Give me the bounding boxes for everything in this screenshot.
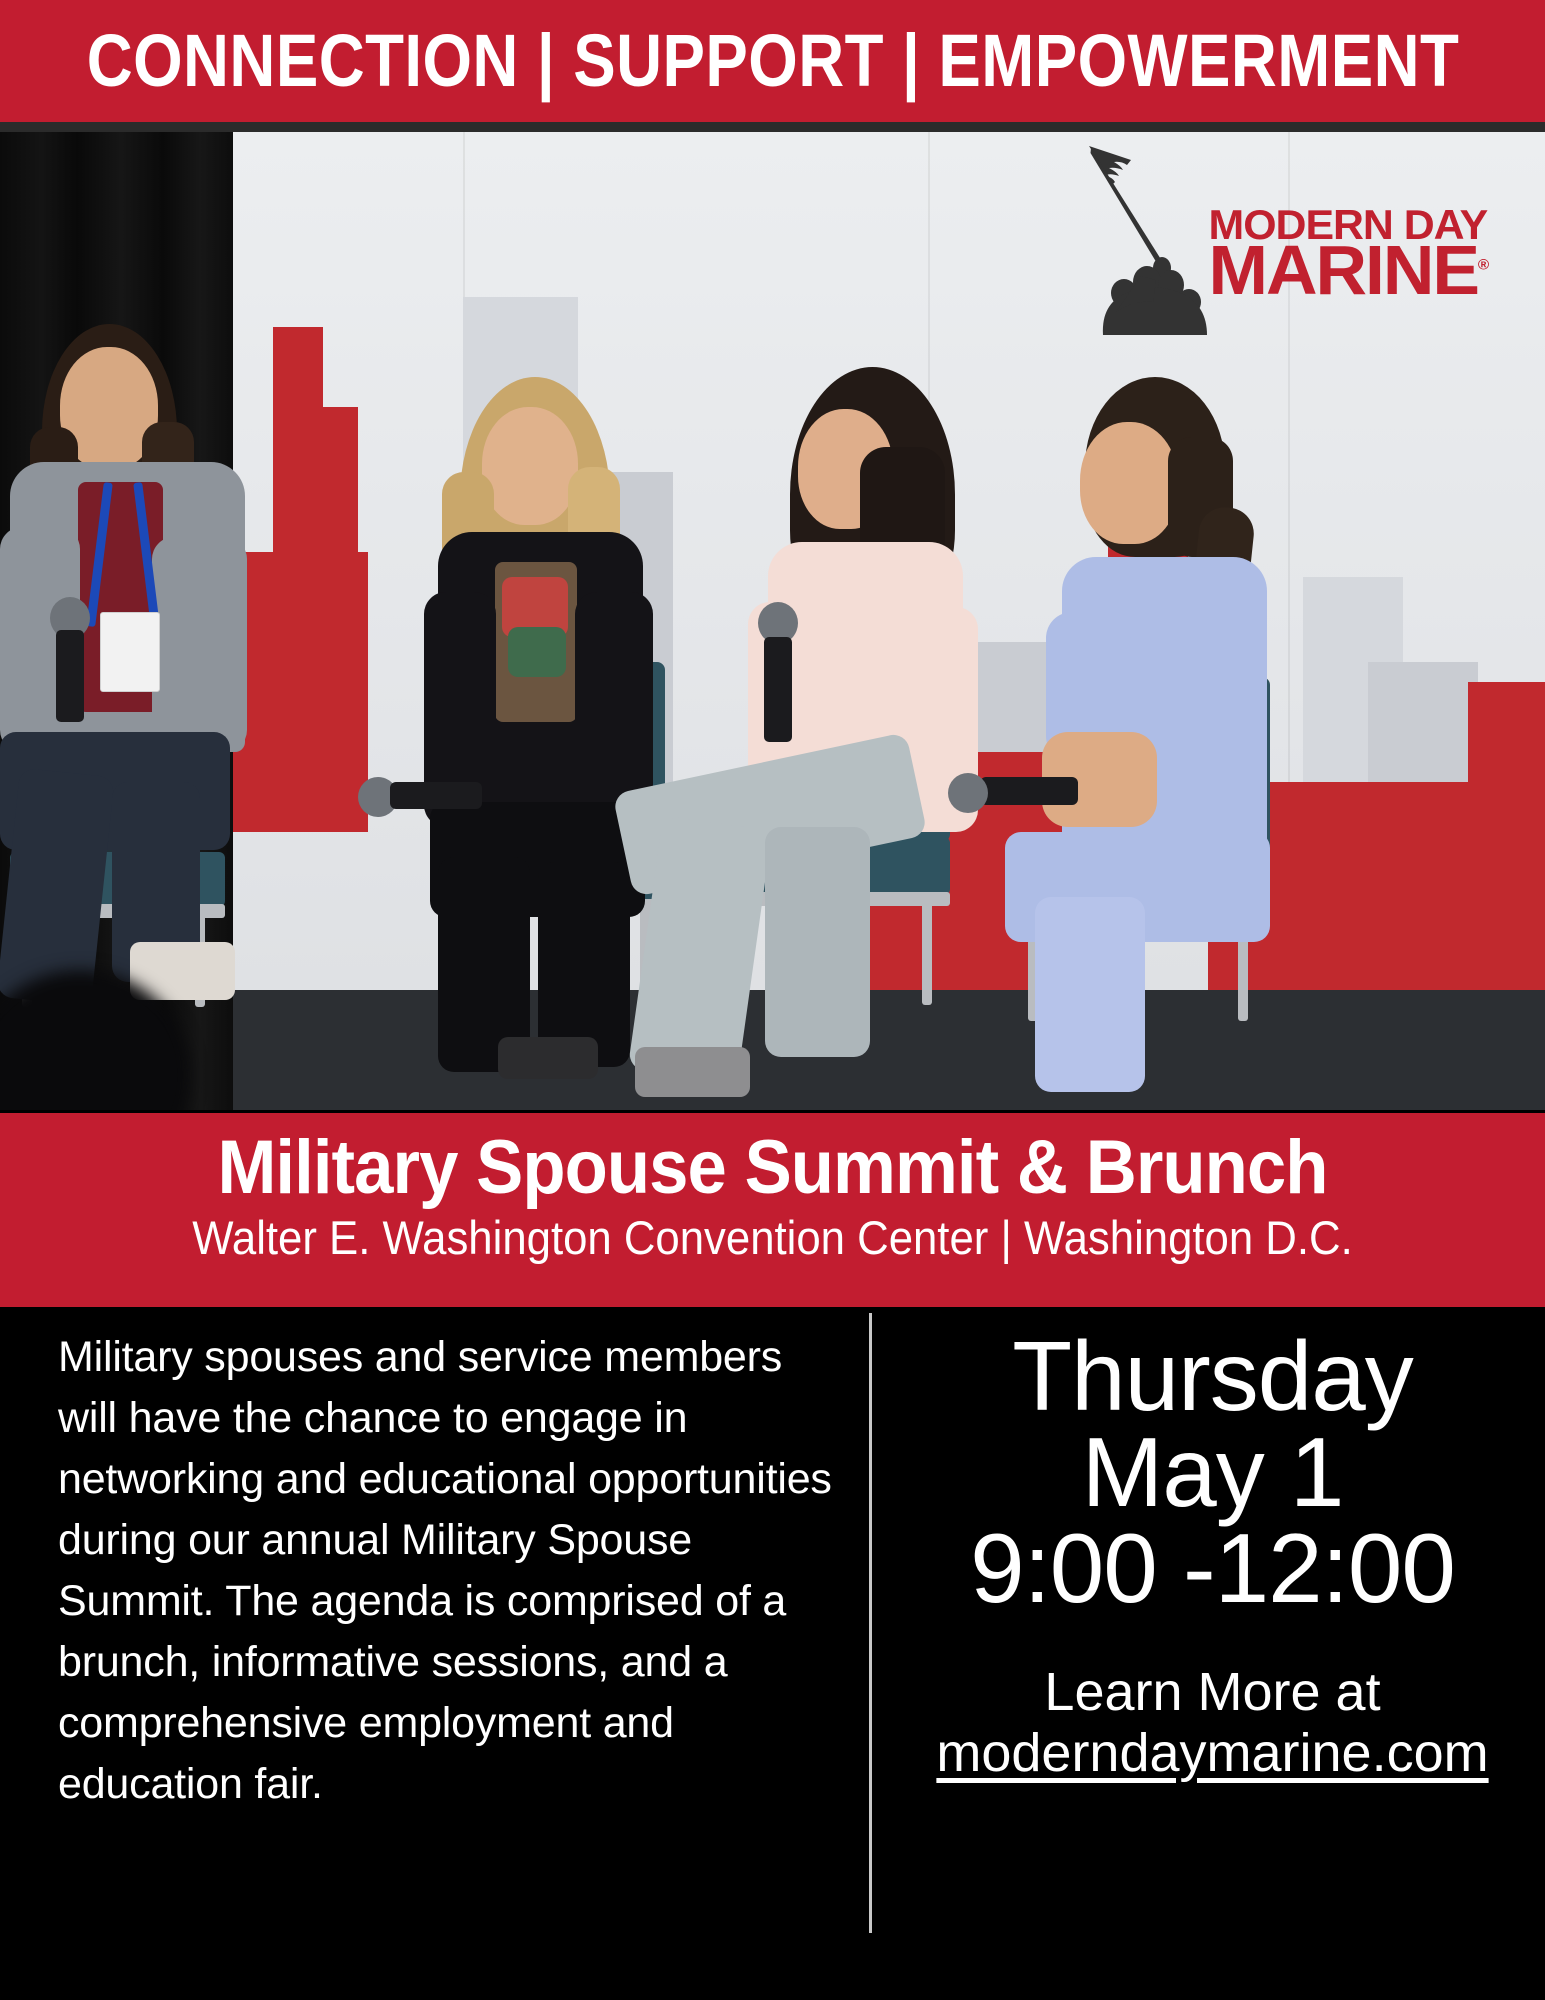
logo-line-2: MARINE® [1208, 242, 1487, 299]
event-details-column: Thursday May 1 9:00 -12:00 Learn More at… [880, 1327, 1545, 1784]
venue-text: Walter E. Washington Convention Center |… [54, 1213, 1491, 1262]
event-description: Military spouses and service members wil… [58, 1327, 848, 1815]
learn-more-label: Learn More at [880, 1663, 1545, 1722]
event-title-banner: Military Spouse Summit & Brunch Walter E… [0, 1113, 1545, 1307]
top-tagline-banner: CONNECTION | SUPPORT | EMPOWERMENT [0, 0, 1545, 122]
page-title: Military Spouse Summit & Brunch [54, 1129, 1491, 1207]
iwo-jima-flag-icon [1061, 130, 1211, 335]
tagline-text: CONNECTION | SUPPORT | EMPOWERMENT [86, 24, 1459, 98]
photo-top-edge [0, 122, 1545, 132]
website-link[interactable]: moderndaymarine.com [936, 1722, 1488, 1784]
event-time: 9:00 -12:00 [880, 1519, 1545, 1619]
column-divider [869, 1313, 872, 1933]
registered-mark: ® [1478, 257, 1487, 274]
panelist-1 [0, 312, 300, 1072]
panel-photo: MODERN DAY MARINE® [0, 122, 1545, 1110]
event-day: Thursday [880, 1327, 1545, 1427]
modern-day-marine-logo: MODERN DAY MARINE® [1057, 130, 1487, 345]
flyer: CONNECTION | SUPPORT | EMPOWERMENT [0, 0, 1545, 2000]
event-date: May 1 [880, 1423, 1545, 1523]
panelist-3 [740, 367, 1080, 1107]
panelist-4 [1040, 377, 1370, 1097]
skyline-shape [1468, 682, 1545, 1002]
